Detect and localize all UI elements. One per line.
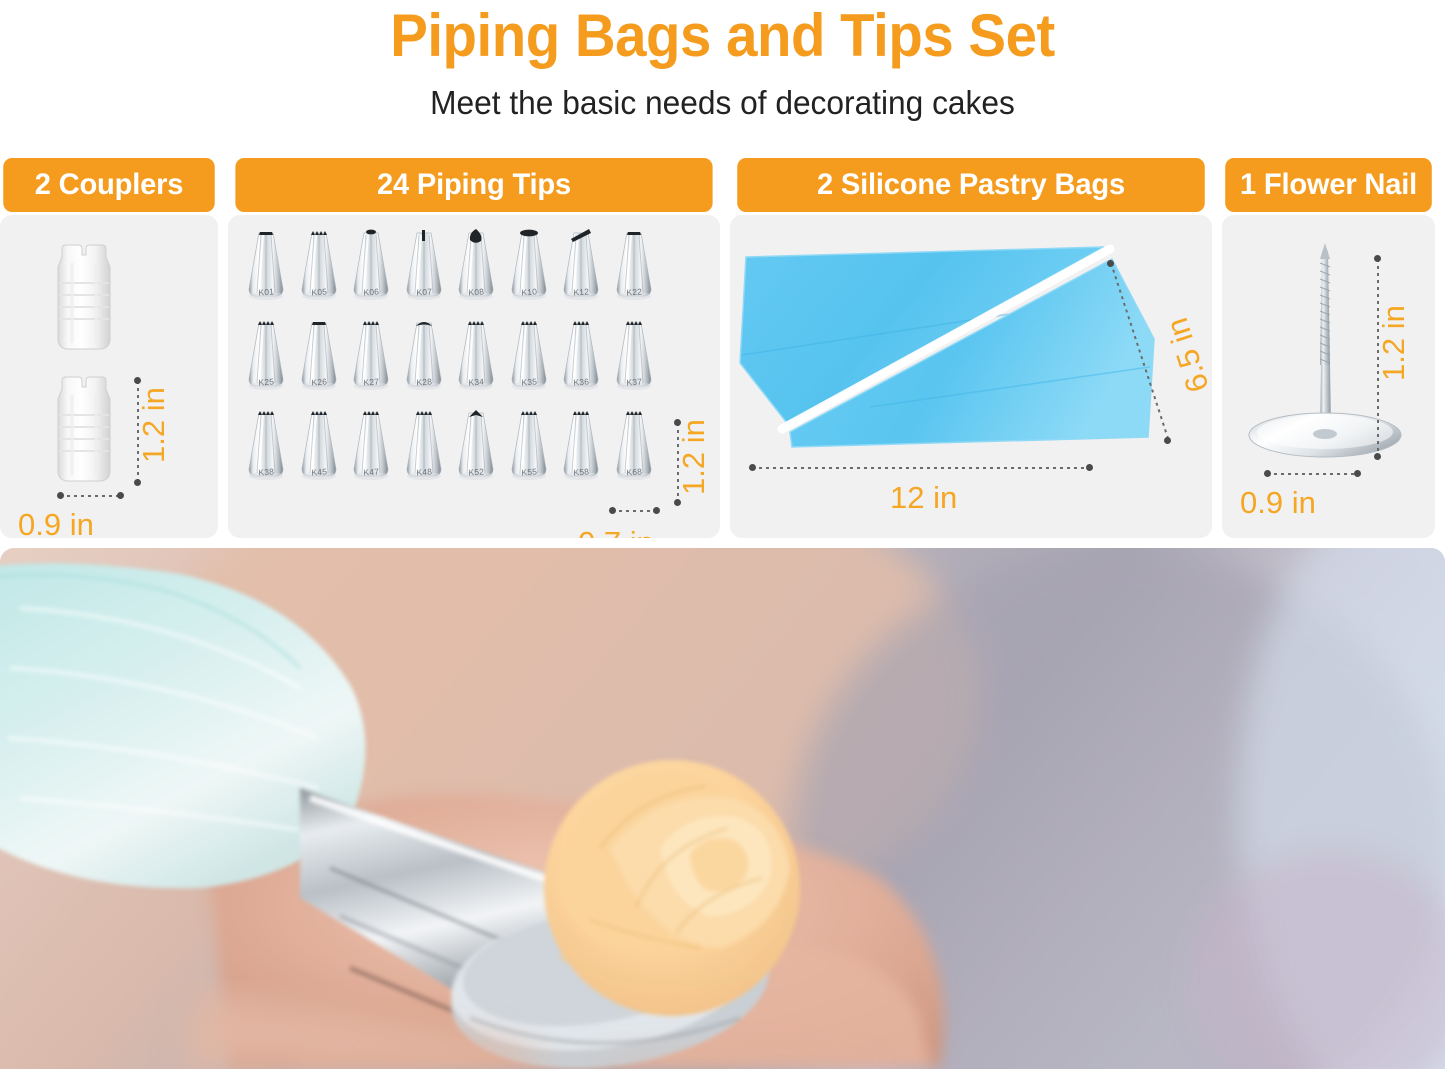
piping-tip-k35: K35 <box>503 315 556 403</box>
piping-tip-k68: K68 <box>608 405 661 493</box>
piping-tip-k45: K45 <box>293 405 346 493</box>
piping-tip-k26: K26 <box>293 315 346 403</box>
piping-tip-k22: K22 <box>608 225 661 313</box>
photo-illustration <box>0 548 1445 1069</box>
nail-width-dim-dot-right <box>1354 470 1361 477</box>
tip-width-label: 0.7 in <box>578 525 654 538</box>
panel-couplers: 2 Couplers <box>0 158 218 538</box>
panel-body-pastry-bags: 6.5 in 12 in <box>730 215 1212 538</box>
piping-tip-k28: K28 <box>398 315 451 403</box>
panel-body-flower-nail: 1.2 in 0.9 in <box>1222 215 1435 538</box>
piping-tip-k52: K52 <box>450 405 503 493</box>
coupler-lower <box>58 377 110 481</box>
nail-width-dim-dot-left <box>1264 470 1271 477</box>
bag-width-dim-dot-right <box>1086 464 1093 471</box>
tip-height-label: 1.2 in <box>676 435 712 495</box>
piping-tip-k38: K38 <box>240 405 293 493</box>
piping-tip-k08: K08 <box>450 225 503 313</box>
piping-tip-k55: K55 <box>503 405 556 493</box>
panel-header-flower-nail: 1 Flower Nail <box>1225 158 1432 212</box>
bag-width-label: 12 in <box>890 480 957 516</box>
nail-width-dim-line <box>1267 473 1357 475</box>
coupler-width-label: 0.9 in <box>18 507 94 538</box>
piping-tip-k47: K47 <box>345 405 398 493</box>
page-subtitle: Meet the basic needs of decorating cakes <box>29 66 1416 119</box>
piping-tip-k36: K36 <box>555 315 608 403</box>
tip-width-dim-line <box>612 510 656 512</box>
nail-width-label: 0.9 in <box>1240 485 1316 521</box>
pastry-bags-illustration <box>730 215 1212 538</box>
coupler-width-dim-line <box>60 495 120 497</box>
coupler-upper <box>58 245 110 349</box>
nail-height-dim-dot-bottom <box>1374 453 1381 460</box>
piping-tips-grid: K01K05K06K07K08K10K12K22K25K26K27K28K34K… <box>240 225 660 493</box>
piping-tip-k58: K58 <box>555 405 608 493</box>
piping-tip-k01: K01 <box>240 225 293 313</box>
piping-tip-k07: K07 <box>398 225 451 313</box>
panel-header-couplers: 2 Couplers <box>3 158 214 212</box>
panel-piping-tips: 24 Piping Tips K01K05K06K07K08K10K12K22K… <box>228 158 720 538</box>
piping-tip-k27: K27 <box>345 315 398 403</box>
panel-header-piping-tips: 24 Piping Tips <box>235 158 712 212</box>
panel-body-couplers: 1.2 in 0.9 in <box>0 215 218 538</box>
bag-diagonal-dim-dot-bottom <box>1164 437 1171 444</box>
page-title: Piping Bags and Tips Set <box>43 0 1401 66</box>
nail-height-dim-dot-top <box>1374 255 1381 262</box>
product-panels: 2 Couplers <box>0 158 1445 538</box>
piping-tip-k05: K05 <box>293 225 346 313</box>
coupler-height-dim-dot-bottom <box>134 479 141 486</box>
nail-height-label: 1.2 in <box>1376 321 1412 381</box>
piping-tip-k12: K12 <box>555 225 608 313</box>
bag-width-dim-line <box>752 467 1092 469</box>
piping-tip-k06: K06 <box>345 225 398 313</box>
lifestyle-photo <box>0 548 1445 1069</box>
couplers-illustration <box>0 215 218 538</box>
panel-flower-nail: 1 Flower Nail <box>1222 158 1435 538</box>
peach-buttercream-rose <box>544 760 800 1016</box>
bag-width-dim-dot-left <box>749 464 756 471</box>
piping-tip-k34: K34 <box>450 315 503 403</box>
panel-pastry-bags: 2 Silicone Pastry Bags <box>730 158 1212 538</box>
tip-height-dim-dot-bottom <box>674 499 681 506</box>
tip-width-dim-dot-left <box>609 507 616 514</box>
coupler-width-dim-dot-left <box>57 492 64 499</box>
coupler-height-label: 1.2 in <box>136 403 172 463</box>
panel-body-piping-tips: K01K05K06K07K08K10K12K22K25K26K27K28K34K… <box>228 215 720 538</box>
coupler-height-dim-dot-top <box>134 377 141 384</box>
nail-threaded-shaft <box>1320 243 1330 365</box>
piping-tip-k48: K48 <box>398 405 451 493</box>
bag-diagonal-dim-dot-top <box>1107 260 1114 267</box>
panel-header-pastry-bags: 2 Silicone Pastry Bags <box>737 158 1205 212</box>
piping-tip-k10: K10 <box>503 225 556 313</box>
piping-tip-k25: K25 <box>240 315 293 403</box>
tip-width-dim-dot-right <box>653 507 660 514</box>
coupler-width-dim-dot-right <box>117 492 124 499</box>
piping-tip-k37: K37 <box>608 315 661 403</box>
